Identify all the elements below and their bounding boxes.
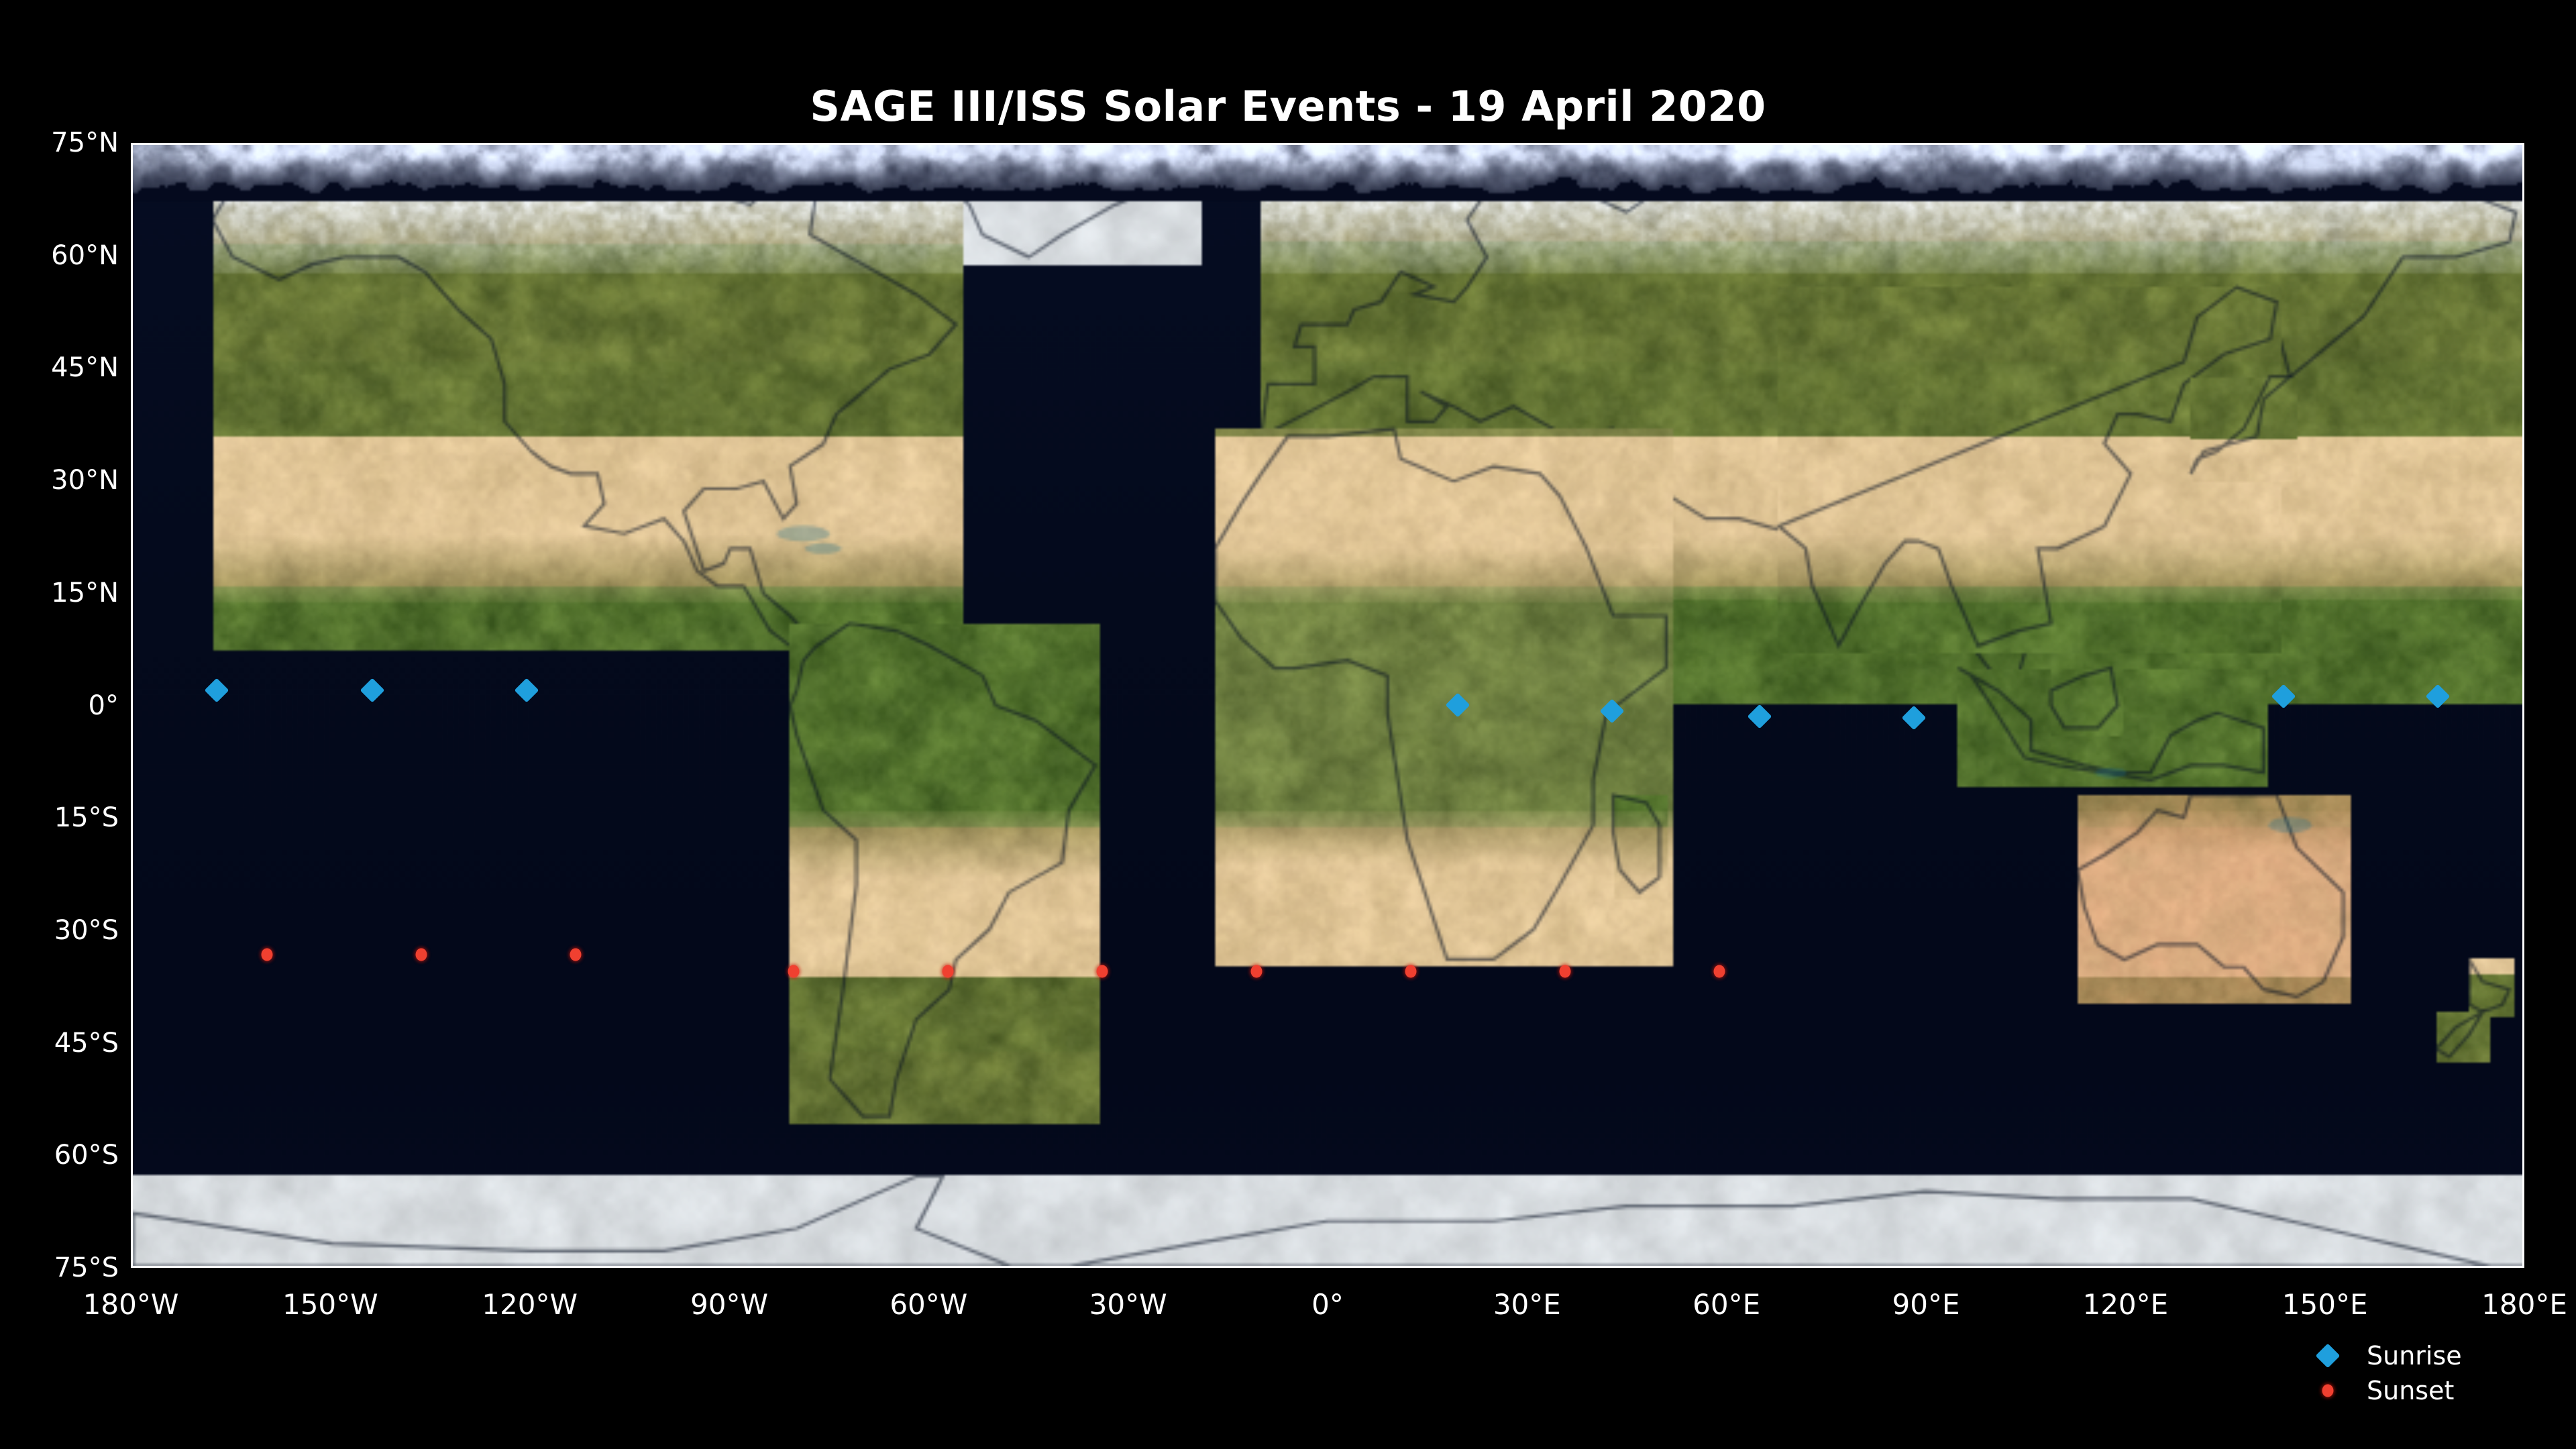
x-tick-label: 180°W [83,1288,179,1321]
legend: SunriseSunset [2308,1338,2563,1408]
y-tick-label: 15°N [51,578,119,608]
sunset-marker[interactable] [1713,965,1725,978]
y-tick-label: 30°S [54,915,119,946]
page-title: SAGE III/ISS Solar Events - 19 April 202… [0,82,2576,131]
x-tick-mark [1927,1266,1929,1268]
legend-label: Sunset [2367,1376,2454,1405]
x-tick-label: 150°E [2282,1288,2368,1321]
x-tick-label: 180°E [2481,1288,2567,1321]
y-tick-mark [131,369,133,371]
x-tick-mark [1329,1266,1331,1268]
x-tick-label: 120°W [482,1288,578,1321]
x-tick-label: 150°W [282,1288,378,1321]
x-tick-label: 60°E [1693,1288,1760,1321]
y-tick-label: 15°S [54,802,119,833]
y-tick-mark [131,1044,133,1046]
y-tick-label: 45°S [54,1028,119,1059]
world-basemap-image [133,145,2522,1266]
y-tick-label: 45°N [51,352,119,383]
x-tick-mark [531,1266,533,1268]
sunset-marker[interactable] [570,949,582,961]
sunset-marker[interactable] [1250,965,1262,978]
sunset-marker[interactable] [1405,965,1416,978]
x-tick-label: 90°W [690,1288,768,1321]
sunset-marker[interactable] [1097,965,1108,978]
sunset-marker[interactable] [788,965,800,978]
y-tick-mark [131,706,133,708]
x-tick-mark [2326,1266,2328,1268]
x-tick-label: 90°E [1892,1288,1960,1321]
y-tick-label: 0° [89,690,119,721]
x-tick-mark [1528,1266,1530,1268]
x-tick-label: 30°E [1493,1288,1561,1321]
figure-canvas: SAGE III/ISS Solar Events - 19 April 202… [0,0,2576,1449]
sunset-marker[interactable] [1559,965,1570,978]
x-tick-mark [1129,1266,1131,1268]
legend-item[interactable]: Sunset [2308,1373,2563,1408]
x-tick-label: 60°W [890,1288,967,1321]
x-tick-label: 0° [1311,1288,1344,1321]
y-tick-mark [131,1157,133,1159]
sunrise-marker-icon [2316,1344,2341,1368]
x-tick-mark [331,1266,333,1268]
y-tick-mark [131,594,133,596]
sunset-marker-icon [2322,1385,2334,1397]
legend-label: Sunrise [2367,1341,2462,1371]
y-tick-label: 75°N [51,127,119,158]
x-tick-label: 120°E [2082,1288,2168,1321]
y-tick-mark [131,256,133,258]
x-tick-mark [132,1266,134,1268]
map-plot-area[interactable] [131,143,2524,1268]
sunset-marker[interactable] [262,949,273,961]
x-tick-mark [731,1266,733,1268]
y-tick-mark [131,819,133,821]
y-tick-label: 30°N [51,465,119,496]
y-tick-label: 75°S [54,1252,119,1283]
sunset-marker[interactable] [943,965,954,978]
y-tick-mark [131,482,133,484]
y-tick-label: 60°N [51,240,119,271]
sunset-marker[interactable] [416,949,427,961]
y-tick-mark [131,931,133,933]
legend-item[interactable]: Sunrise [2308,1338,2563,1373]
x-tick-label: 30°W [1089,1288,1167,1321]
x-tick-mark [930,1266,932,1268]
x-tick-mark [2127,1266,2129,1268]
x-tick-mark [1727,1266,1729,1268]
y-tick-mark [131,144,133,146]
y-tick-label: 60°S [54,1140,119,1171]
